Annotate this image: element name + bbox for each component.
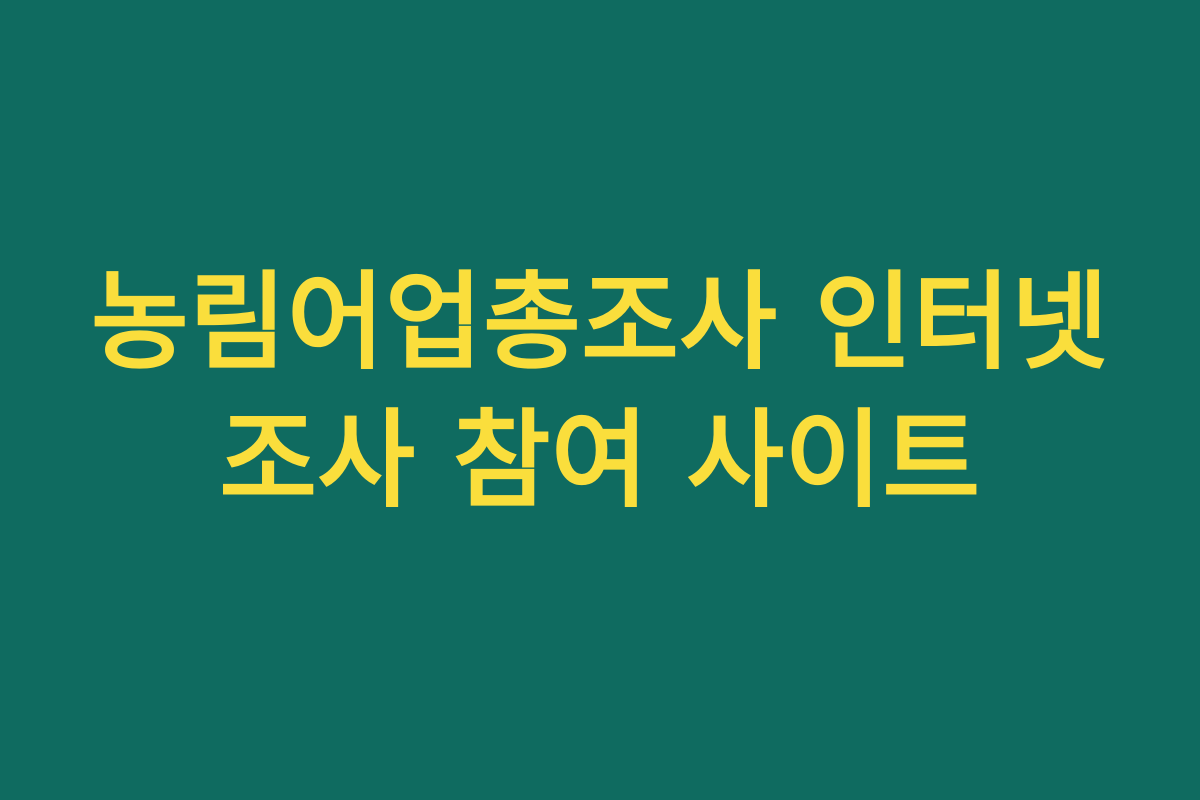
page-title: 농림어업총조사 인터넷 조사 참여 사이트 <box>0 254 1200 530</box>
page-title-line-2: 조사 참여 사이트 <box>40 392 1160 530</box>
page-title-line-1: 농림어업총조사 인터넷 <box>40 254 1160 392</box>
banner: 농림어업총조사 인터넷 조사 참여 사이트 <box>0 0 1200 800</box>
